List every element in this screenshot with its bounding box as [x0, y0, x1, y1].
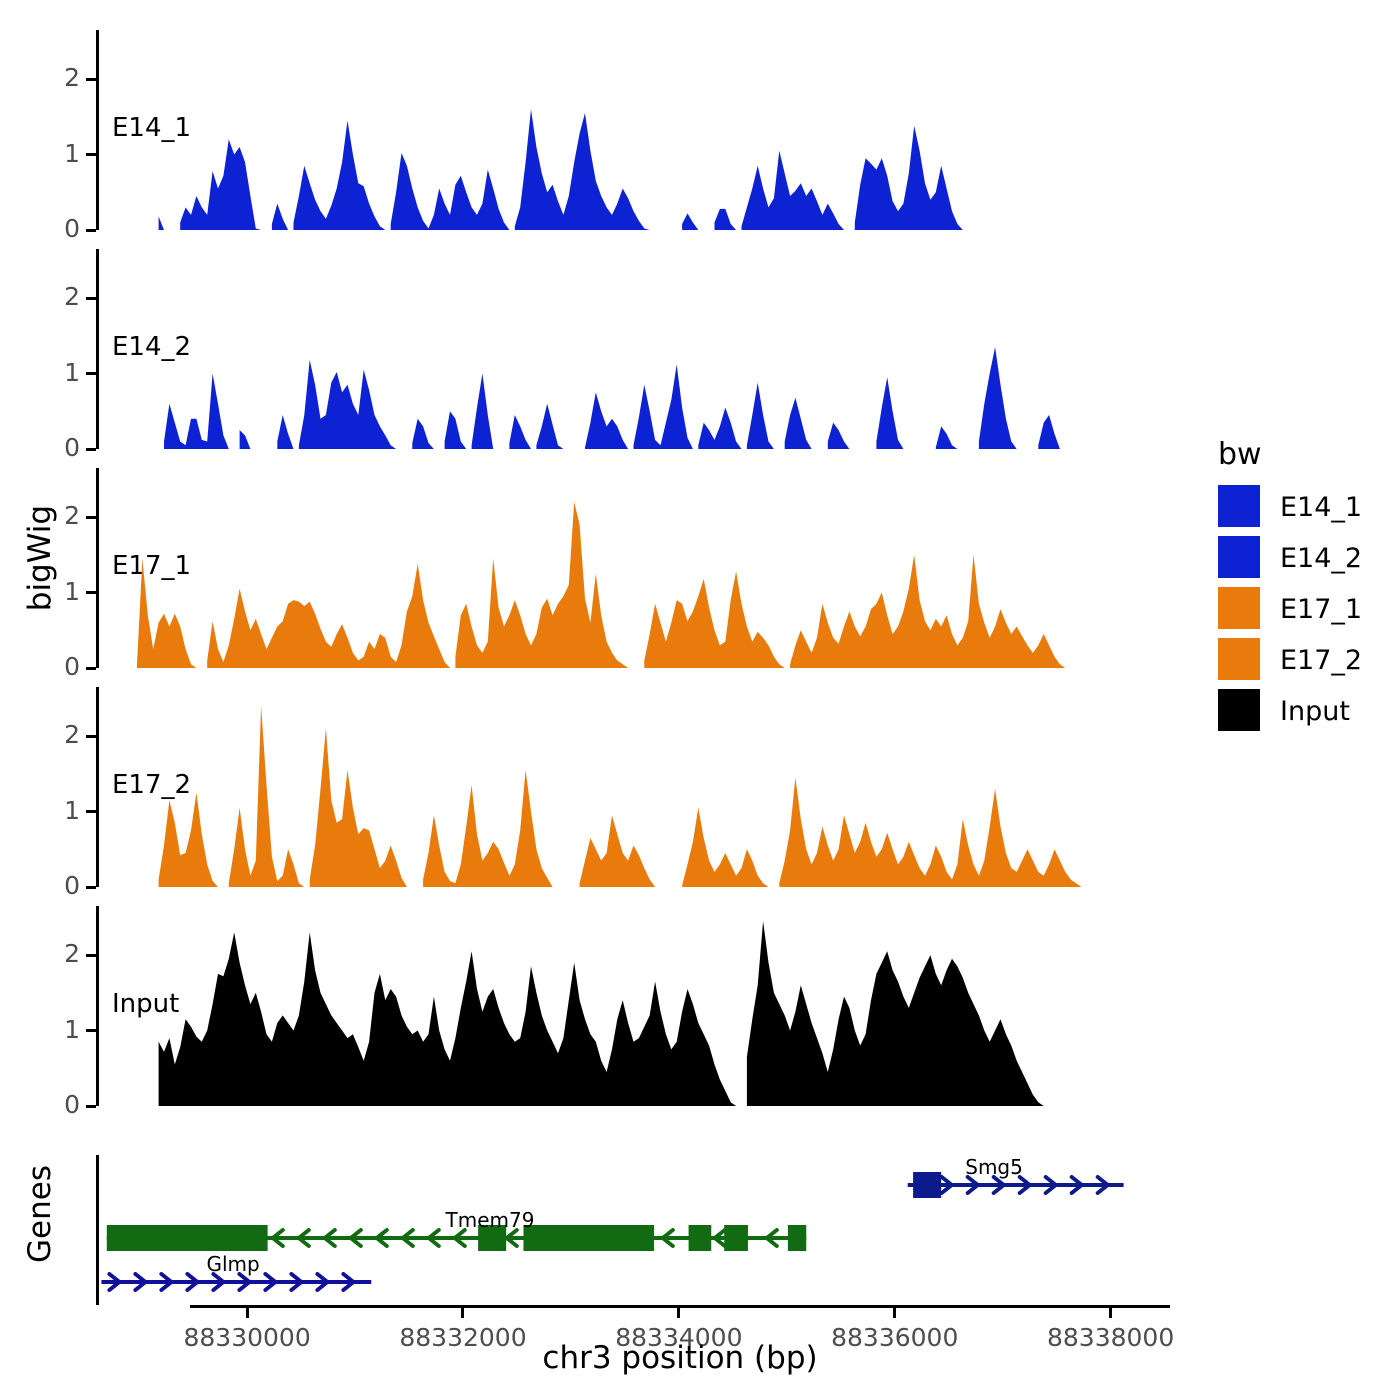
gene-label-tmem79: Tmem79: [446, 1208, 535, 1232]
x-tick-label: 88338000: [1047, 1323, 1174, 1352]
legend-swatch-e14_1[interactable]: [1218, 485, 1260, 527]
gene-label-smg5: Smg5: [965, 1155, 1023, 1179]
x-tick: [677, 1308, 680, 1318]
legend-title: bw: [1218, 437, 1262, 472]
x-axis-title: chr3 position (bp): [542, 1340, 817, 1376]
legend-label-e14_1[interactable]: E14_1: [1280, 492, 1362, 523]
legend-swatch-e17_1[interactable]: [1218, 587, 1260, 629]
gene-models: [0, 0, 1400, 1400]
x-tick: [1109, 1308, 1112, 1318]
x-tick: [893, 1308, 896, 1318]
x-tick-label: 88332000: [399, 1323, 526, 1352]
legend-label-e14_2[interactable]: E14_2: [1280, 543, 1362, 574]
x-tick: [246, 1308, 249, 1318]
legend-label-input[interactable]: Input: [1280, 696, 1350, 727]
gene-label-glmp: Glmp: [206, 1252, 259, 1276]
legend-label-e17_2[interactable]: E17_2: [1280, 645, 1362, 676]
legend-label-e17_1[interactable]: E17_1: [1280, 594, 1362, 625]
genome-browser-figure: bigWig Genes 012E14_1012E14_2012E17_1012…: [0, 0, 1400, 1400]
legend-swatch-input[interactable]: [1218, 689, 1260, 731]
x-tick-label: 88336000: [831, 1323, 958, 1352]
legend-swatch-e17_2[interactable]: [1218, 638, 1260, 680]
x-tick-label: 88330000: [183, 1323, 310, 1352]
legend-swatch-e14_2[interactable]: [1218, 536, 1260, 578]
x-tick: [461, 1308, 464, 1318]
